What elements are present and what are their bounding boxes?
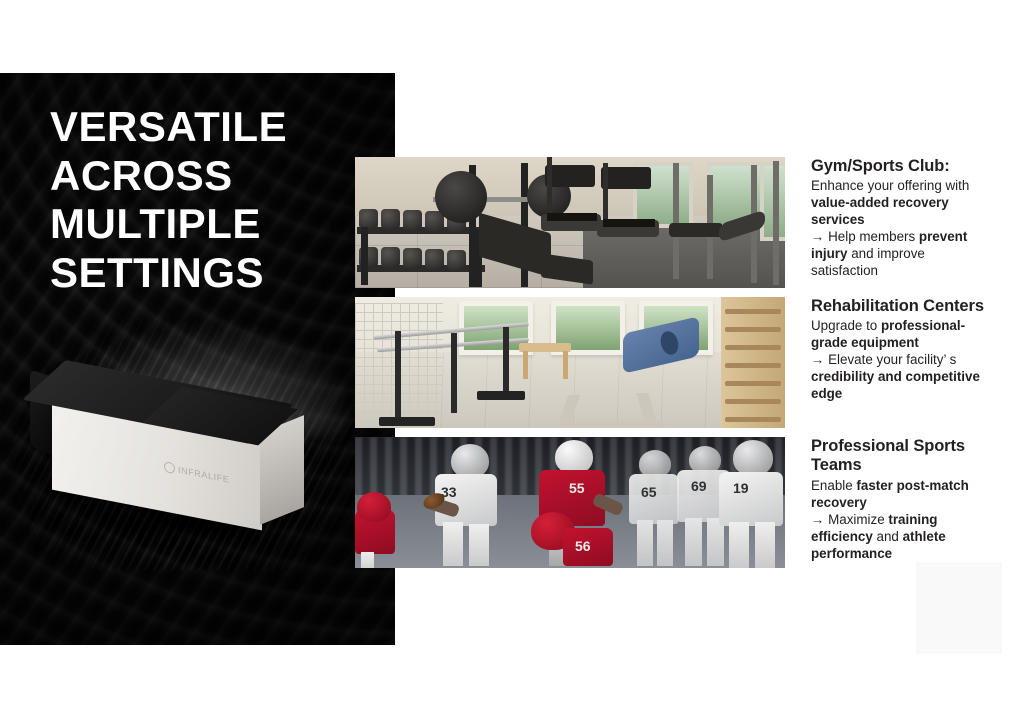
machine-seat [669,223,723,237]
rehab-text-block: Rehabilitation Centers Upgrade to profes… [785,297,995,402]
wall-bars [721,297,785,428]
parallel-bar-post [503,327,509,393]
dumbbell [403,248,422,268]
watermark [916,562,1002,654]
parallel-bar-base [379,417,435,426]
treadmill-console [601,167,651,189]
football-player: 56 [505,506,615,568]
dumbbell [403,210,422,230]
content-column: Gym/Sports Club: Enhance your offering w… [355,157,995,577]
player-number: 56 [575,538,591,554]
parallel-bar-base [477,391,525,400]
player-leg [755,522,775,568]
wall-bar-rung [725,399,781,404]
treadmill-arm [547,157,552,219]
gym-heading: Gym/Sports Club: [811,157,995,176]
player-leg [729,522,749,568]
section-row: Rehabilitation Centers Upgrade to profes… [355,297,995,428]
football-player: 19 [715,440,785,568]
cable-machine-post [673,163,679,279]
wall-bar-rung [725,381,781,386]
dumbbell [381,209,400,229]
treadmill-arm [603,163,608,225]
rehab-photo [355,297,785,428]
arrow-icon: → [811,229,824,244]
treadmill-console [545,165,595,187]
rehab-line2-pre: Elevate your facility’ s [824,352,956,367]
section-row: Gym/Sports Club: Enhance your offering w… [355,157,995,288]
player-number: 19 [733,480,749,496]
player-leg [657,520,673,566]
gym-line1-bold: value-added recovery services [811,195,949,227]
parallel-bar-post [451,333,457,413]
wall-bar-rung [725,363,781,368]
football-line1-pre: Enable [811,478,856,493]
section-row: 33 55 56 [355,437,995,568]
dumbbell [425,249,444,269]
football-line2-pre: Maximize [824,512,888,527]
treadmill-belt [547,213,597,221]
player-leg [361,552,374,568]
wall-bar-rung [725,309,781,314]
player-leg [469,524,489,566]
football-heading: Professional Sports Teams [811,437,995,476]
gym-text-block: Gym/Sports Club: Enhance your offering w… [785,157,995,279]
player-leg [637,520,653,566]
player-helmet [555,440,593,474]
wall-bar-rung [725,327,781,332]
wall-bar-rung [725,345,781,350]
parallel-bar-post [395,331,401,419]
wall-bar-rung [725,417,781,422]
treadmill [597,167,659,237]
page-title: VERSATILE ACROSS MULTIPLE SETTINGS [50,103,370,298]
player-helmet [357,492,391,522]
rehab-line2-bold: credibility and competitive edge [811,369,980,401]
football-text-block: Professional Sports Teams Enable faster … [785,437,995,562]
product-image: INFRALIFE [14,320,354,570]
football-photo: 33 55 56 [355,437,785,568]
player-jersey [719,472,783,526]
gym-line2-pre: Help members [824,229,919,244]
couch-base-rail [561,421,665,428]
football-player-ball-carrier: 33 [427,442,513,568]
arrow-icon: → [811,512,824,527]
football-body: Enable faster post-match recovery → Maxi… [811,477,995,562]
player-helmet [451,444,489,478]
player-helmet [733,440,773,476]
dumbbell [381,247,400,267]
rehab-line1-pre: Upgrade to [811,318,881,333]
gym-body: Enhance your offering with value-added r… [811,177,995,279]
player-number: 65 [641,484,657,500]
cable-machine-post [773,161,779,285]
rehab-body: Upgrade to professional-grade equipment … [811,317,995,402]
treadmill-belt [603,219,655,227]
dumbbell [447,250,466,270]
player-number: 69 [691,478,707,494]
treadmill [541,165,601,231]
rehab-heading: Rehabilitation Centers [811,297,995,316]
gym-line1-pre: Enhance your offering with [811,178,969,193]
slide-root: VERSATILE ACROSS MULTIPLE SETTINGS INFRA… [0,0,1024,724]
player-number: 55 [569,480,585,496]
football-player [355,494,399,568]
product-logo-mark-icon [164,461,175,474]
arrow-icon: → [811,352,824,367]
player-leg [685,518,702,566]
football-line2-post: and [873,529,903,544]
player-leg [443,522,463,566]
gym-photo [355,157,785,288]
